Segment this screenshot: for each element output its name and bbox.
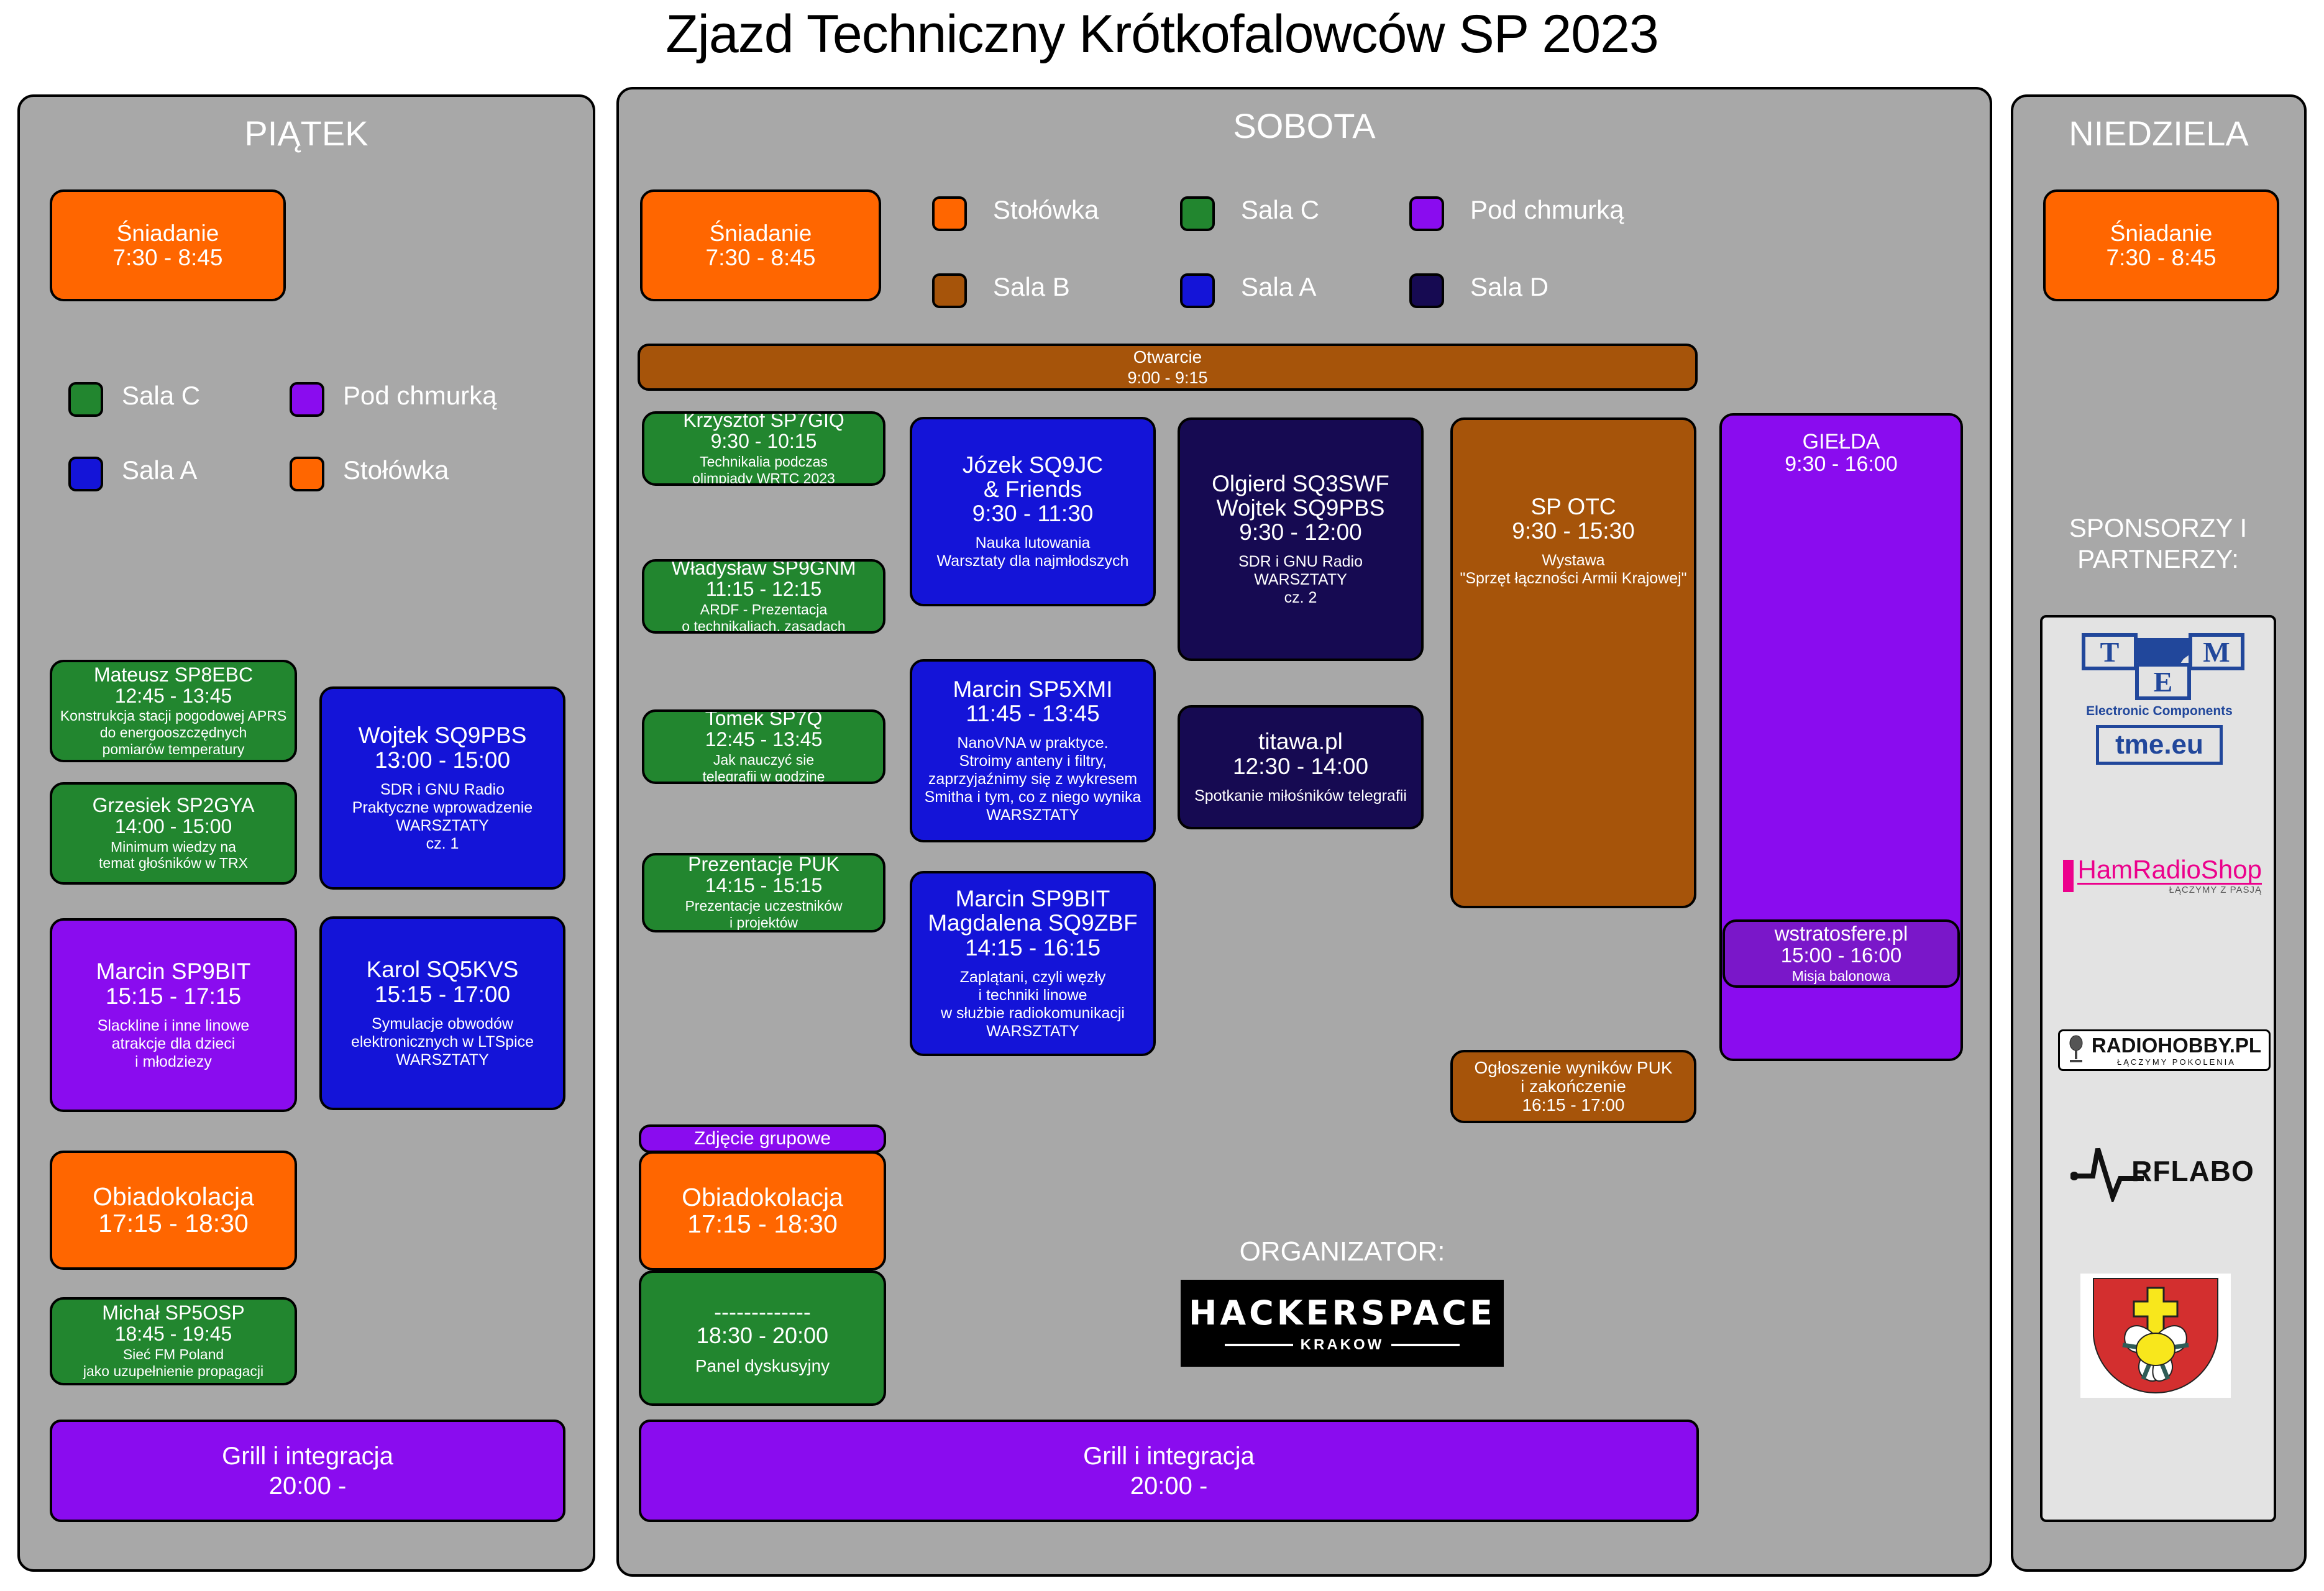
- event-head: Marcin SP5XMI: [953, 677, 1112, 701]
- saturday-event-0[interactable]: Krzysztof SP7GIQ 9:30 - 10:15 Technikali…: [642, 411, 885, 486]
- friday-breakfast[interactable]: Śniadanie 7:30 - 8:45: [50, 189, 286, 301]
- event-head: Mateusz SP8EBC: [94, 665, 253, 686]
- schedule-poster: Zjazd Techniczny Krótkofalowców SP 2023 …: [0, 0, 2324, 1591]
- event-head: Prezentacje PUK: [688, 854, 839, 875]
- sponsor-logo-tme[interactable]: T M E Electronic Components tme.eu: [2063, 627, 2256, 770]
- event-time: 12:45 - 13:45: [115, 686, 232, 707]
- event-time: 13:00 - 15:00: [375, 748, 510, 772]
- event-desc: Panel dyskusyjny: [695, 1356, 830, 1376]
- event-time: 20:00 -: [1130, 1471, 1208, 1501]
- legend-swatch-stolowka: [932, 196, 967, 231]
- event-time: 17:15 - 18:30: [687, 1211, 838, 1238]
- event-desc: Spotkanie miłośników telegrafii: [1194, 787, 1407, 805]
- friday-event-1[interactable]: Grzesiek SP2GYA 14:00 - 15:00 Minimum wi…: [50, 782, 297, 885]
- event-head: Wojtek SQ9PBS: [359, 723, 527, 747]
- saturday-event-10[interactable]: Ogłoszenie wyników PUK i zakończenie 16:…: [1450, 1050, 1696, 1123]
- tme-letter-e: E: [2135, 663, 2191, 700]
- tme-letter-m: M: [2189, 633, 2244, 670]
- event-head: Obiadokolacja: [682, 1184, 843, 1211]
- event-time: 12:45 - 13:45: [705, 729, 823, 750]
- friday-event-0[interactable]: Mateusz SP8EBC 12:45 - 13:45 Konstrukcja…: [50, 660, 297, 762]
- saturday-opening[interactable]: Otwarcie 9:00 - 9:15: [638, 344, 1698, 391]
- event-time: 14:00 - 15:00: [115, 816, 232, 837]
- event-desc: ARDF - Prezentacja o technikaliach, zasa…: [682, 601, 845, 634]
- hackerspace-logo: HACKERSPACE KRAKOW: [1181, 1280, 1504, 1367]
- event-head: Tomek SP7Q: [705, 709, 823, 729]
- saturday-event-1[interactable]: Władysław SP9GNM 11:15 - 12:15 ARDF - Pr…: [642, 559, 885, 634]
- saturday-event-12[interactable]: wstratosfere.pl 15:00 - 16:00 Misja balo…: [1722, 919, 1960, 988]
- event-head: GIEŁDA: [1803, 431, 1880, 453]
- event-time: 9:30 - 12:00: [1239, 520, 1361, 544]
- event-head: Grill i integracja: [1083, 1441, 1255, 1471]
- event-desc: Prezentacje uczestników i projektów: [685, 898, 842, 931]
- legend-swatch-sala-d: [1409, 273, 1444, 308]
- legend-label-sala-a: Sala A: [1241, 272, 1316, 302]
- event-desc: NanoVNA w praktyce. Stroimy anteny i fil…: [925, 734, 1141, 824]
- tme-letter-t: T: [2082, 633, 2138, 670]
- sunday-breakfast[interactable]: Śniadanie 7:30 - 8:45: [2043, 189, 2279, 301]
- event-head: Obiadokolacja: [93, 1183, 254, 1210]
- event-time: 9:30 - 11:30: [972, 501, 1094, 526]
- microphone-icon: [2067, 1035, 2088, 1065]
- legend-swatch-stolowka: [290, 457, 324, 491]
- sponsor-rflabo-name: RFLABO: [2131, 1154, 2254, 1188]
- sponsor-hamradioshop-subtitle: ŁĄCZYMY Z PASJĄ: [2077, 885, 2262, 895]
- event-head: Marcin SP9BIT Magdalena SQ9ZBF: [928, 887, 1137, 935]
- saturday-breakfast[interactable]: Śniadanie 7:30 - 8:45: [640, 189, 881, 301]
- event-desc: SDR i GNU Radio Praktyczne wprowadzenie …: [352, 781, 533, 853]
- legend-label-sala-d: Sala D: [1470, 272, 1549, 302]
- event-time: 14:15 - 16:15: [965, 936, 1100, 960]
- hackerspace-logo-rule: KRAKOW: [1225, 1336, 1460, 1354]
- friday-grill[interactable]: Grill i integracja 20:00 -: [50, 1420, 565, 1522]
- event-desc: Jak nauczyć sie telegrafii w godzinę: [703, 752, 825, 784]
- event-time: 16:15 - 17:00: [1522, 1096, 1624, 1115]
- event-head: Marcin SP9BIT: [96, 959, 251, 983]
- day-title-saturday: SOBOTA: [619, 106, 1990, 146]
- event-head: Krzysztof SP7GIQ: [683, 411, 844, 431]
- sponsor-logo-rflabo[interactable]: RFLABO: [2051, 1137, 2274, 1205]
- friday-event-6[interactable]: Michał SP5OSP 18:45 - 19:45 Sieć FM Pola…: [50, 1297, 297, 1385]
- saturday-event-13[interactable]: Zdjęcie grupowe: [639, 1124, 886, 1153]
- event-head: Otwarcie: [1133, 346, 1202, 368]
- event-time: 9:30 - 16:00: [1785, 453, 1897, 475]
- radiohobby-box: RADIOHOBBY.PL ŁĄCZYMY POKOLENIA: [2058, 1029, 2271, 1071]
- saturday-event-7[interactable]: Olgierd SQ3SWF Wojtek SQ9PBS 9:30 - 12:0…: [1178, 417, 1424, 661]
- friday-event-3[interactable]: Marcin SP9BIT 15:15 - 17:15 Slackline i …: [50, 918, 297, 1112]
- organizer-label: ORGANIZATOR:: [1168, 1236, 1516, 1267]
- event-head: Olgierd SQ3SWF Wojtek SQ9PBS: [1212, 472, 1389, 520]
- event-head: Grzesiek SP2GYA: [93, 795, 255, 816]
- day-title-friday: PIĄTEK: [20, 113, 593, 153]
- saturday-grill[interactable]: Grill i integracja 20:00 -: [639, 1420, 1699, 1522]
- event-time: 7:30 - 8:45: [113, 245, 223, 270]
- sponsors-title: SPONSORZY I PARTNERZY:: [2021, 513, 2295, 575]
- legend-label-pod-chmurka: Pod chmurką: [1470, 195, 1624, 225]
- event-desc: Wystawa "Sprzęt łączności Armii Krajowej…: [1460, 552, 1686, 588]
- sponsor-tme-subtitle: Electronic Components: [2086, 704, 2233, 719]
- event-time: 9:30 - 15:30: [1512, 519, 1634, 543]
- saturday-event-6[interactable]: Marcin SP9BIT Magdalena SQ9ZBF 14:15 - 1…: [910, 871, 1156, 1056]
- friday-event-5[interactable]: Obiadokolacja 17:15 - 18:30: [50, 1151, 297, 1270]
- event-time: 9:00 - 9:15: [1127, 368, 1207, 389]
- tme-monogram-icon: T M E: [2082, 633, 2237, 701]
- event-time: 18:30 - 20:00: [697, 1324, 828, 1347]
- legend-swatch-pod-chmurka: [1409, 196, 1444, 231]
- event-time: 15:00 - 16:00: [1781, 945, 1902, 967]
- event-time: 17:15 - 18:30: [98, 1210, 249, 1237]
- legend-label-sala-b: Sala B: [993, 272, 1070, 302]
- legend-label-stolowka: Stołówka: [343, 455, 449, 485]
- event-time: 7:30 - 8:45: [2107, 245, 2216, 270]
- saturday-event-15[interactable]: ------------- 18:30 - 20:00 Panel dyskus…: [639, 1270, 886, 1406]
- divider-line: [1225, 1344, 1293, 1346]
- sponsor-hamradioshop-name: HamRadioShop: [2077, 857, 2262, 885]
- event-head: wstratosfere.pl: [1775, 923, 1908, 945]
- page-title: Zjazd Techniczny Krótkofalowców SP 2023: [0, 4, 2324, 65]
- saturday-event-4[interactable]: Józek SQ9JC & Friends 9:30 - 11:30 Nauka…: [910, 417, 1156, 606]
- event-time: 20:00 -: [269, 1471, 347, 1501]
- sponsor-logo-radiohobby[interactable]: RADIOHOBBY.PL ŁĄCZYMY POKOLENIA: [2056, 1025, 2273, 1075]
- event-desc: Nauka lutowania Warsztaty dla najmłodszy…: [937, 534, 1129, 570]
- event-head: Karol SQ5KVS: [367, 957, 519, 982]
- saturday-event-14[interactable]: Obiadokolacja 17:15 - 18:30: [639, 1151, 886, 1270]
- sponsor-logo-hamradioshop[interactable]: HamRadioShop ŁĄCZYMY Z PASJĄ: [2063, 854, 2262, 898]
- legend-label-pod-chmurka: Pod chmurką: [343, 381, 496, 411]
- friday-event-2[interactable]: Wojtek SQ9PBS 13:00 - 15:00 SDR i GNU Ra…: [319, 686, 565, 890]
- legend-swatch-sala-a: [68, 457, 103, 491]
- event-time: 18:45 - 19:45: [115, 1324, 232, 1345]
- event-head: Michał SP5OSP: [102, 1303, 244, 1324]
- saturday-event-5[interactable]: Marcin SP5XMI 11:45 - 13:45 NanoVNA w pr…: [910, 659, 1156, 842]
- event-time: 12:30 - 14:00: [1233, 754, 1368, 778]
- event-head: Śniadanie: [117, 221, 219, 245]
- sponsor-logo-coat-of-arms[interactable]: [2080, 1274, 2231, 1398]
- event-head: Śniadanie: [2110, 221, 2213, 245]
- event-desc: Symulacje obwodów elektronicznych w LTSp…: [351, 1015, 534, 1069]
- day-title-sunday: NIEDZIELA: [2013, 113, 2304, 153]
- hackerspace-logo-name: HACKERSPACE: [1189, 1293, 1496, 1333]
- legend-swatch-sala-c: [1180, 196, 1215, 231]
- event-head: Grill i integracja: [222, 1441, 393, 1471]
- sponsor-tme-url: tme.eu: [2096, 725, 2223, 765]
- event-time: 15:15 - 17:15: [106, 984, 241, 1008]
- event-head: titawa.pl: [1258, 729, 1343, 754]
- event-time: 7:30 - 8:45: [706, 245, 816, 270]
- event-desc: Zaplątani, czyli węzły i techniki linowe…: [941, 969, 1125, 1041]
- event-head: -------------: [714, 1300, 811, 1324]
- event-desc: Slackline i inne linowe atrakcje dla dzi…: [98, 1017, 250, 1071]
- coat-of-arms-icon: [2090, 1277, 2221, 1395]
- legend-swatch-sala-b: [932, 273, 967, 308]
- legend-label-sala-a: Sala A: [122, 455, 197, 485]
- hackerspace-logo-city: KRAKOW: [1301, 1336, 1384, 1354]
- legend-swatch-sala-a: [1180, 273, 1215, 308]
- saturday-event-8[interactable]: titawa.pl 12:30 - 14:00 Spotkanie miłośn…: [1178, 705, 1424, 829]
- friday-event-4[interactable]: Karol SQ5KVS 15:15 - 17:00 Symulacje obw…: [319, 916, 565, 1110]
- saturday-event-3[interactable]: Prezentacje PUK 14:15 - 15:15 Prezentacj…: [642, 853, 885, 932]
- event-desc: Minimum wiedzy na temat głośników w TRX: [99, 839, 248, 872]
- event-time: 11:15 - 12:15: [706, 579, 821, 600]
- event-head: SP OTC: [1530, 495, 1616, 519]
- event-desc: Konstrukcja stacji pogodowej APRS do ene…: [60, 708, 286, 757]
- sponsor-radiohobby-subtitle: ŁĄCZYMY POKOLENIA: [2092, 1057, 2261, 1067]
- event-head: Zdjęcie grupowe: [694, 1127, 831, 1151]
- event-head: Józek SQ9JC & Friends: [963, 453, 1103, 501]
- event-head: Ogłoszenie wyników PUK i zakończenie: [1474, 1059, 1672, 1095]
- legend-swatch-pod-chmurka: [290, 382, 324, 417]
- event-desc: Misja balonowa: [1792, 968, 1891, 985]
- event-head: Władysław SP9GNM: [672, 559, 856, 579]
- legend-label-sala-c: Sala C: [122, 381, 200, 411]
- saturday-event-2[interactable]: Tomek SP7Q 12:45 - 13:45 Jak nauczyć sie…: [642, 709, 885, 784]
- event-desc: SDR i GNU Radio WARSZTATY cz. 2: [1238, 553, 1363, 607]
- saturday-event-9[interactable]: SP OTC 9:30 - 15:30 Wystawa "Sprzęt łącz…: [1450, 417, 1696, 908]
- event-time: 15:15 - 17:00: [375, 982, 510, 1006]
- event-desc: Technikalia podczas olimpiady WRTC 2023: [692, 454, 835, 486]
- divider-line: [1391, 1344, 1460, 1346]
- event-time: 11:45 - 13:45: [966, 701, 1099, 726]
- legend-swatch-sala-c: [68, 382, 103, 417]
- event-desc: Sieć FM Poland jako uzupełnienie propaga…: [83, 1346, 263, 1379]
- hamradioshop-mark-icon: [2063, 860, 2074, 892]
- sponsor-radiohobby-name: RADIOHOBBY.PL: [2092, 1034, 2261, 1057]
- event-head: Śniadanie: [710, 221, 812, 245]
- legend-label-stolowka: Stołówka: [993, 195, 1099, 225]
- event-time: 14:15 - 15:15: [705, 875, 823, 896]
- legend-label-sala-c: Sala C: [1241, 195, 1319, 225]
- event-time: 9:30 - 10:15: [711, 431, 817, 452]
